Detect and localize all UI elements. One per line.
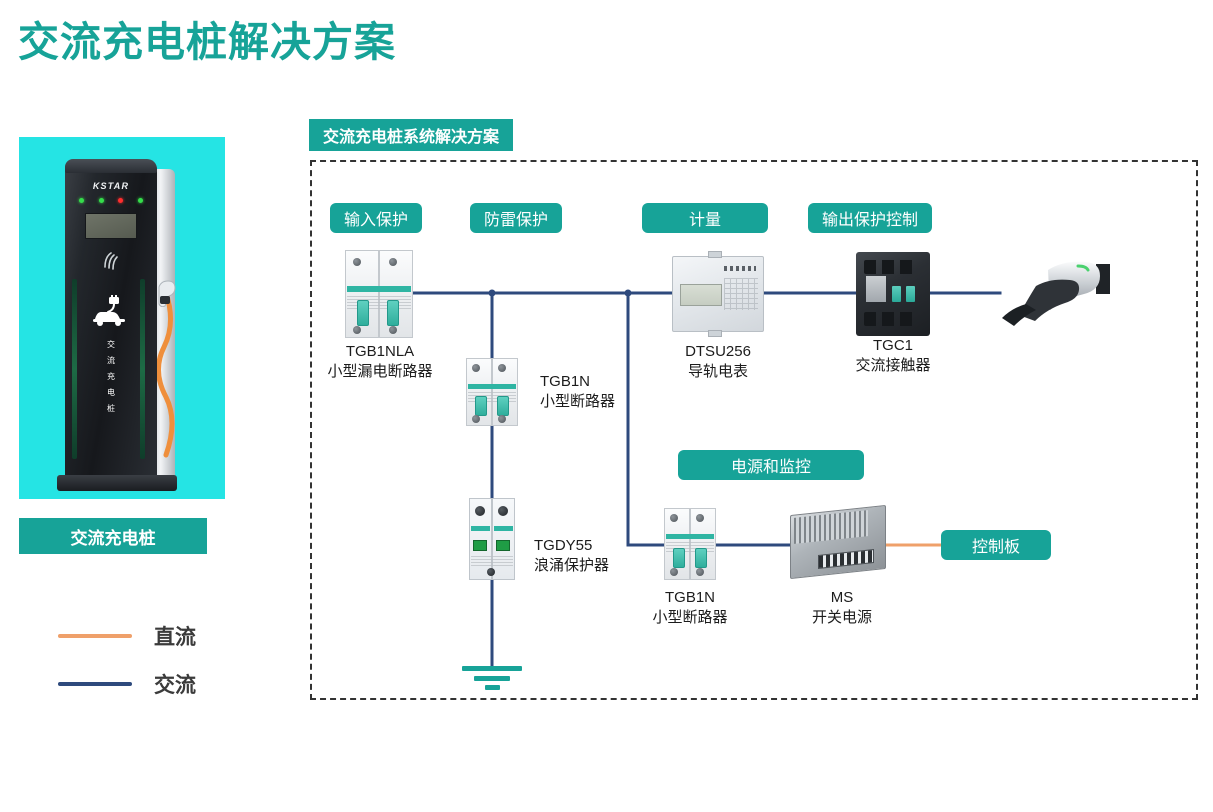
section-pill-control-board[interactable]: 控制板 [941,530,1051,560]
spd-cap-left [475,506,485,516]
component-label-meter-model: DTSU256 [638,342,798,362]
pile-vtext-char-5: 桩 [65,401,157,417]
section-pill-input-protection[interactable]: 输入保护 [330,203,422,233]
pile-display-screen [85,213,137,239]
component-mcb-upper[interactable] [466,358,518,426]
mcb-lower-screw-tl [670,514,678,522]
component-label-power-supply-model: MS [762,588,922,608]
rcbo-screw-tl [353,258,361,266]
component-label-spd: TGDY55 浪涌保护器 [534,536,609,576]
ev-charging-icon [89,295,133,327]
component-label-mcb-lower: TGB1N 小型断路器 [610,588,770,628]
component-label-meter: DTSU256 导轨电表 [638,342,798,382]
mcb-upper-toggle-right[interactable] [497,396,509,416]
section-pill-output-protection[interactable]: 输出保护控制 [808,203,932,233]
mcb-upper-screw-tr [498,364,506,372]
spd-band-left [471,526,490,531]
component-label-mcb-lower-model: TGB1N [610,588,770,608]
pile-vtext-char-2: 流 [65,353,157,369]
contactor-terminals-bottom [864,312,916,326]
status-led-3 [118,198,123,203]
charging-pile-illustration: KSTAR [57,155,179,493]
meter-clip-top [708,251,722,258]
component-label-contactor-model: TGC1 [813,336,973,356]
mcb-lower-toggle-left[interactable] [673,548,685,568]
mcb-lower-screw-br [696,568,704,576]
diagram-badge: 交流充电桩系统解决方案 [309,119,513,151]
contactor-accent-right [906,286,915,302]
component-label-meter-desc: 导轨电表 [638,362,798,382]
ground-bar-3 [485,685,500,690]
product-caption: 交流充电桩 [19,518,207,554]
spd-window-left [473,540,487,551]
ground-bar-2 [474,676,510,681]
rcbo-toggle-right[interactable] [387,300,399,326]
mcb-lower-band [666,534,714,539]
status-led-4 [138,198,143,203]
section-pill-power-monitoring-label: 电源和监控 [731,453,811,477]
section-pill-input-protection-label: 输入保护 [344,206,408,230]
component-label-rcbo-model: TGB1NLA [290,342,470,362]
component-label-rcbo-desc: 小型漏电断路器 [290,362,470,382]
mcb-upper-screw-bl [472,415,480,423]
product-photo: KSTAR [19,137,225,499]
section-pill-lightning-protection[interactable]: 防雷保护 [470,203,562,233]
pile-vertical-text: 交 流 充 电 桩 [65,337,157,417]
diagram-page: 交流充电桩解决方案 KSTAR [0,0,1213,812]
spd-band-right [494,526,513,531]
rcbo-screw-br [389,326,397,334]
pile-vtext-char-3: 充 [65,369,157,385]
pile-vtext-char-4: 电 [65,385,157,401]
page-title: 交流充电桩解决方案 [18,22,396,63]
component-contactor[interactable] [856,252,930,336]
rcbo-screw-bl [353,326,361,334]
meter-lcd-display [680,284,722,306]
section-pill-metering[interactable]: 计量 [642,203,768,233]
section-pill-power-monitoring[interactable]: 电源和监控 [678,450,864,480]
mcb-upper-toggle-left[interactable] [475,396,487,416]
pile-led-row [79,198,143,203]
component-label-mcb-lower-desc: 小型断路器 [610,608,770,628]
mcb-lower-screw-tr [696,514,704,522]
meter-led-strip [724,266,756,271]
component-label-contactor: TGC1 交流接触器 [813,336,973,376]
component-label-spd-model: TGDY55 [534,536,609,556]
spd-terminal [487,568,495,576]
component-label-contactor-desc: 交流接触器 [813,356,973,376]
component-label-mcb-upper-model: TGB1N [540,372,615,392]
rcbo-band [347,286,411,292]
pile-top-cap [65,159,157,173]
legend: 直流 交流 [58,612,196,708]
pile-connector-head [155,279,177,305]
contactor-nameplate [866,276,886,302]
ground-bar-1 [462,666,522,671]
status-led-1 [79,198,84,203]
rcbo-toggle-left[interactable] [357,300,369,326]
pile-base [57,475,177,491]
contactor-accent-left [892,286,901,302]
rcbo-screw-tr [389,258,397,266]
component-power-supply[interactable] [790,510,886,574]
section-pill-lightning-protection-label: 防雷保护 [484,206,548,230]
charging-gun [992,256,1114,332]
pile-vtext-char-1: 交 [65,337,157,353]
mcb-lower-screw-bl [670,568,678,576]
spd-printing [471,556,513,568]
mcb-lower-toggle-right[interactable] [695,548,707,568]
section-pill-output-protection-label: 输出保护控制 [822,206,918,230]
component-label-rcbo: TGB1NLA 小型漏电断路器 [290,342,470,382]
component-label-spd-desc: 浪涌保护器 [534,556,609,576]
component-mcb-lower[interactable] [664,508,716,580]
component-spd[interactable] [469,498,515,580]
component-label-power-supply-desc: 开关电源 [762,608,922,628]
spd-window-right [496,540,510,551]
legend-label-dc: 直流 [154,621,196,651]
spd-cap-right [498,506,508,516]
component-label-mcb-upper-desc: 小型断路器 [540,392,615,412]
component-meter[interactable] [672,256,764,332]
component-label-power-supply: MS 开关电源 [762,588,922,628]
legend-label-ac: 交流 [154,669,196,699]
legend-swatch-ac [58,682,132,686]
component-rcbo[interactable] [345,250,413,338]
meter-clip-bottom [708,330,722,337]
legend-item-ac: 交流 [58,660,196,708]
pile-charging-cable [157,287,177,455]
section-pill-control-board-label: 控制板 [972,533,1020,557]
ground-symbol [462,666,522,690]
section-pill-metering-label: 计量 [689,206,721,230]
mcb-upper-screw-br [498,415,506,423]
component-label-mcb-upper: TGB1N 小型断路器 [540,372,615,412]
meter-label-grid [724,278,758,310]
mcb-upper-screw-tl [472,364,480,372]
status-led-2 [99,198,104,203]
mcb-upper-band [468,384,516,389]
legend-swatch-dc [58,634,132,638]
pile-brand-label: KSTAR [65,181,157,191]
legend-item-dc: 直流 [58,612,196,660]
contactor-terminals-top [864,260,916,274]
rfid-icon [97,249,125,271]
